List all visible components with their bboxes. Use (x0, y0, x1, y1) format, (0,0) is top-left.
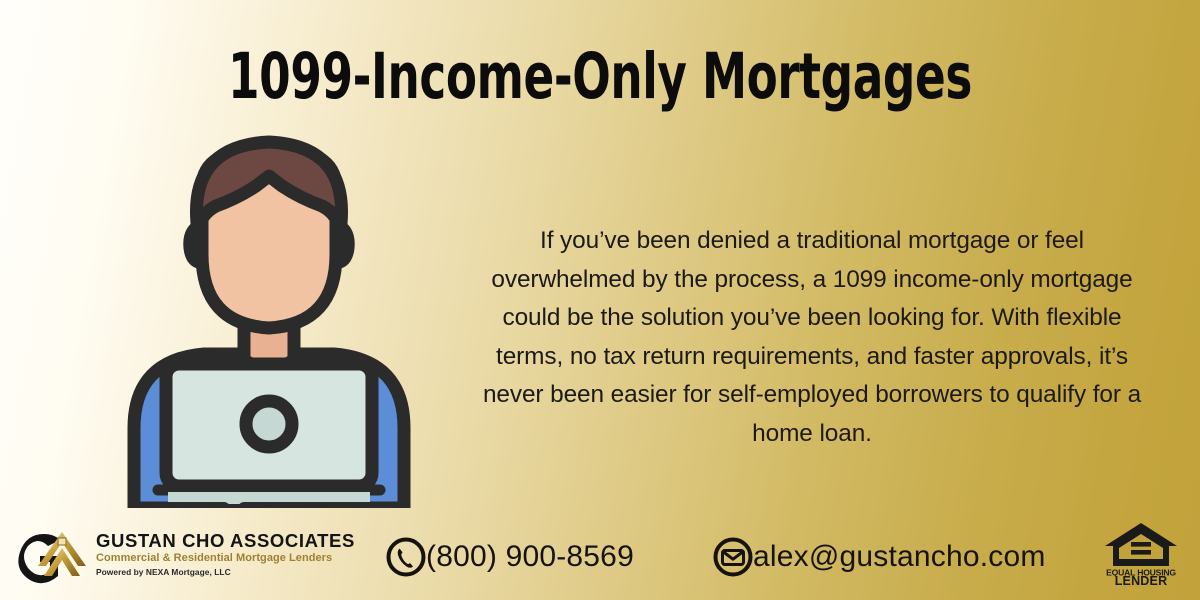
phone-number: (800) 900-8569 (426, 540, 634, 574)
phone-icon (385, 536, 427, 578)
contact-email[interactable]: alex@gustancho.com (712, 536, 1046, 578)
equal-housing-lender-badge: EQUAL HOUSING LENDER (1102, 520, 1180, 586)
laptop-screen-dot (246, 401, 292, 447)
footer-bar: GUSTAN CHO ASSOCIATES Commercial & Resid… (0, 512, 1200, 600)
envelope-icon (712, 536, 754, 578)
laptop-shape (148, 364, 390, 508)
brand-tagline: Commercial & Residential Mortgage Lender… (96, 551, 316, 566)
equal-housing-house-icon (1105, 523, 1177, 566)
contact-phone[interactable]: (800) 900-8569 (385, 536, 634, 578)
email-address: alex@gustancho.com (753, 540, 1046, 574)
gca-monogram-icon (18, 526, 94, 588)
body-paragraph: If you’ve been denied a traditional mort… (478, 222, 1146, 454)
brand-subline: Powered by NEXA Mortgage, LLC (96, 566, 316, 579)
brand-logo[interactable]: GUSTAN CHO ASSOCIATES Commercial & Resid… (18, 520, 318, 592)
person-at-laptop-illustration (104, 128, 434, 508)
equal-housing-line2: LENDER (1115, 574, 1168, 586)
promotional-banner: 1099-Income-Only Mortgages (0, 0, 1200, 600)
brand-logo-text: GUSTAN CHO ASSOCIATES Commercial & Resid… (96, 530, 316, 579)
brand-name: GUSTAN CHO ASSOCIATES (96, 530, 316, 551)
page-title: 1099-Income-Only Mortgages (120, 44, 1080, 110)
